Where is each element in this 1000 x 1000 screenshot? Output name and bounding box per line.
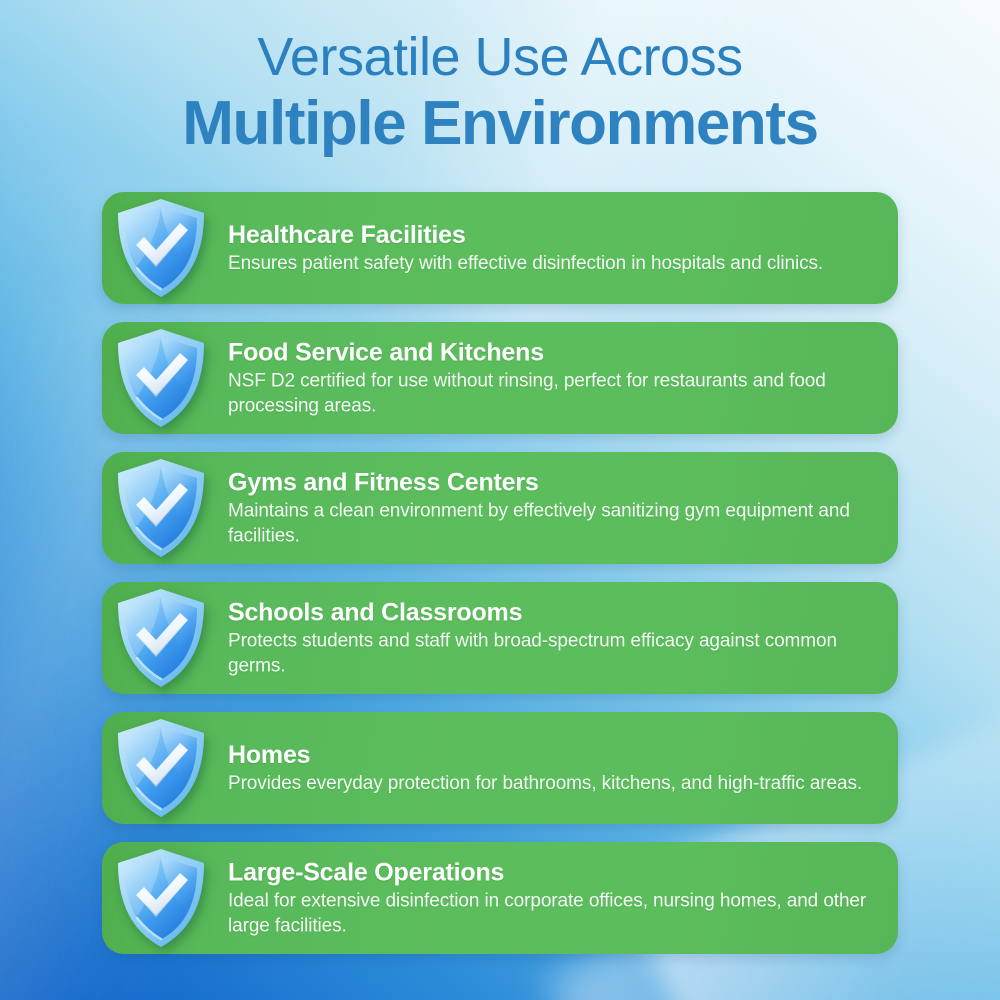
shield-check-icon <box>113 456 209 560</box>
shield-check-icon <box>113 716 209 820</box>
environment-card[interactable]: HomesProvides everyday protection for ba… <box>102 712 898 824</box>
card-title: Schools and Classrooms <box>228 598 878 628</box>
title-line-2: Multiple Environments <box>0 88 1000 160</box>
card-description: Provides everyday protection for bathroo… <box>228 771 878 796</box>
environment-card-list: Healthcare FacilitiesEnsures patient saf… <box>102 192 898 954</box>
environment-card[interactable]: Large-Scale OperationsIdeal for extensiv… <box>102 842 898 954</box>
card-text-block: Healthcare FacilitiesEnsures patient saf… <box>228 220 878 276</box>
shield-check-icon <box>113 326 209 430</box>
card-title: Food Service and Kitchens <box>228 338 878 368</box>
infographic-poster: Versatile Use Across Multiple Environmen… <box>0 0 1000 1000</box>
shield-check-icon <box>113 586 209 690</box>
card-description: Protects students and staff with broad-s… <box>228 629 878 679</box>
card-text-block: Gyms and Fitness CentersMaintains a clea… <box>228 468 878 549</box>
environment-card[interactable]: Schools and ClassroomsProtects students … <box>102 582 898 694</box>
card-text-block: HomesProvides everyday protection for ba… <box>228 740 878 796</box>
card-description: NSF D2 certified for use without rinsing… <box>228 369 878 419</box>
environment-card[interactable]: Food Service and KitchensNSF D2 certifie… <box>102 322 898 434</box>
card-text-block: Food Service and KitchensNSF D2 certifie… <box>228 338 878 419</box>
card-title: Large-Scale Operations <box>228 858 878 888</box>
shield-check-icon <box>113 196 209 300</box>
card-text-block: Schools and ClassroomsProtects students … <box>228 598 878 679</box>
card-description: Ensures patient safety with effective di… <box>228 251 878 276</box>
card-title: Homes <box>228 740 878 770</box>
environment-card[interactable]: Healthcare FacilitiesEnsures patient saf… <box>102 192 898 304</box>
page-title: Versatile Use Across Multiple Environmen… <box>0 26 1000 160</box>
card-description: Maintains a clean environment by effecti… <box>228 499 878 549</box>
card-text-block: Large-Scale OperationsIdeal for extensiv… <box>228 858 878 939</box>
card-title: Healthcare Facilities <box>228 220 878 250</box>
card-description: Ideal for extensive disinfection in corp… <box>228 889 878 939</box>
environment-card[interactable]: Gyms and Fitness CentersMaintains a clea… <box>102 452 898 564</box>
shield-check-icon <box>113 846 209 950</box>
title-line-1: Versatile Use Across <box>0 26 1000 88</box>
card-title: Gyms and Fitness Centers <box>228 468 878 498</box>
